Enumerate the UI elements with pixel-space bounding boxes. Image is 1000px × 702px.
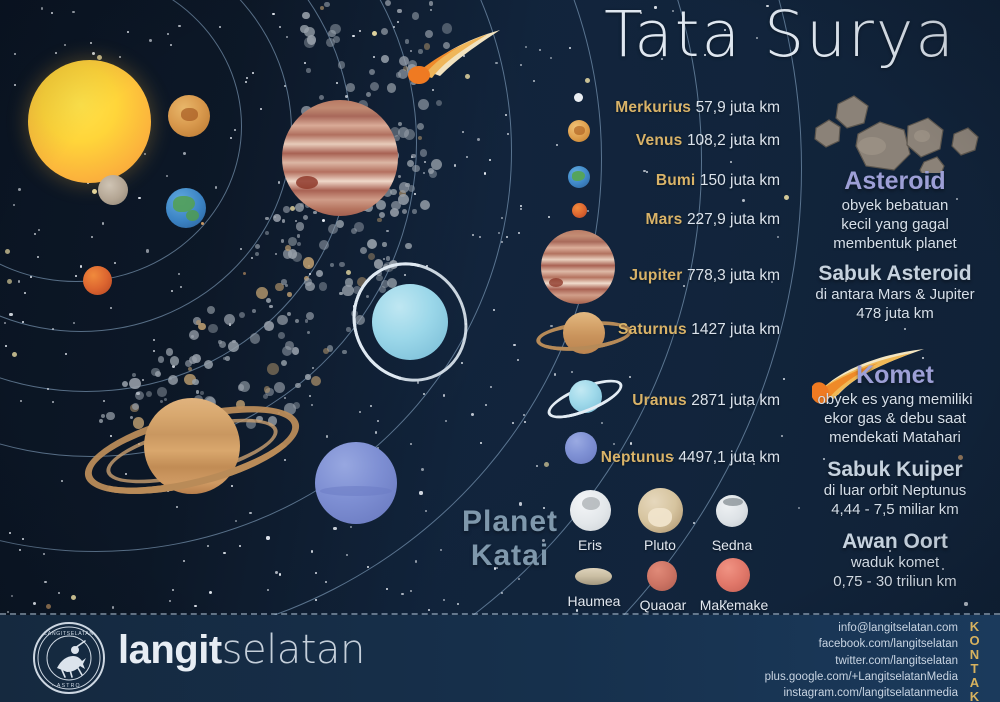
star [14, 53, 16, 55]
asteroid-dot [277, 315, 287, 325]
star [373, 56, 375, 58]
jupiter-great-red-spot-left [296, 176, 318, 189]
asteroid-dot [418, 136, 423, 141]
asteroid-dot [228, 341, 239, 352]
asteroid-dot [320, 6, 324, 10]
star [315, 572, 317, 574]
asteroid-dot [223, 357, 227, 361]
asteroid-dot [354, 222, 364, 232]
star [41, 7, 43, 9]
star [284, 85, 286, 87]
star [260, 108, 262, 110]
star [171, 290, 173, 292]
star [377, 420, 379, 422]
saturn-group-left [82, 366, 302, 536]
star [11, 595, 13, 597]
logo-emblem-icon: LANGITSELATAN · ASTRO · [35, 624, 103, 692]
star [92, 52, 95, 55]
asteroid-dot [379, 212, 385, 218]
star [275, 571, 278, 574]
asteroid-dot [275, 283, 284, 292]
star [383, 258, 385, 260]
asteroid-dot [339, 262, 345, 268]
dwarf-label-sedna: Sedna [692, 537, 772, 553]
asteroid-desc-2: kecil yang gagal [795, 215, 995, 234]
asteroid-dot [405, 183, 410, 188]
star [278, 181, 280, 183]
star [423, 172, 425, 174]
star [345, 95, 348, 98]
star [223, 552, 225, 554]
contact-facebook[interactable]: facebook.com/langitselatan [698, 636, 958, 652]
quaoar-icon [647, 561, 677, 591]
asteroid-dot [366, 92, 371, 97]
star [33, 602, 36, 605]
orbit-venus [0, 0, 292, 332]
star [5, 249, 10, 254]
star [518, 232, 520, 234]
star [784, 195, 789, 200]
asteroid-dot [397, 9, 402, 14]
asteroid-dot [316, 270, 323, 277]
star [352, 35, 354, 37]
star [245, 81, 247, 83]
star [119, 56, 121, 58]
star [252, 72, 254, 74]
star [525, 46, 527, 48]
asteroid-dot [390, 208, 399, 217]
planet-row-earth: Bumi 150 juta km [430, 172, 780, 190]
star [75, 275, 77, 277]
asteroid-dot [295, 319, 299, 323]
star [693, 522, 695, 524]
asteroid-dot [323, 348, 330, 355]
star [350, 526, 352, 528]
asteroid-dot [281, 360, 287, 366]
asteroid-dot [166, 348, 174, 356]
asteroid-dot [377, 218, 382, 223]
star [471, 413, 474, 416]
sabuk-asteroid-block: Sabuk Asteroid di antara Mars & Jupiter … [795, 262, 995, 323]
dwarf-label-pluto: Pluto [620, 537, 700, 553]
contact-googleplus[interactable]: plus.google.com/+LangitselatanMedia [698, 669, 958, 685]
asteroid-dot [328, 224, 338, 234]
asteroid-dot [381, 55, 389, 63]
star [290, 206, 295, 211]
asteroid-dot [398, 175, 401, 178]
asteroid-dot [232, 340, 236, 344]
star [20, 400, 22, 402]
star [275, 253, 277, 255]
star [346, 554, 348, 556]
star [375, 431, 377, 433]
star [65, 353, 67, 355]
asteroid-dot [250, 333, 261, 344]
asteroid-dot [282, 219, 286, 223]
star [24, 292, 26, 294]
star [311, 404, 313, 406]
star [312, 367, 314, 369]
asteroid-dot [300, 25, 309, 34]
planet-row-saturn: Saturnus 1427 juta km [430, 321, 780, 339]
star [585, 78, 590, 83]
asteroid-dot [189, 356, 197, 364]
contact-twitter[interactable]: twitter.com/langitselatan [698, 653, 958, 669]
page-title: Tata Surya [570, 2, 990, 68]
asteroid-dot [330, 263, 334, 267]
asteroid-dot [368, 253, 375, 260]
sabuk-asteroid-heading: Sabuk Asteroid [795, 262, 995, 285]
asteroid-dot [327, 345, 333, 351]
star [64, 44, 66, 46]
star [498, 232, 500, 234]
star [153, 350, 155, 352]
star [18, 188, 21, 191]
star [730, 161, 732, 163]
komet-block: Komet obyek es yang memiliki ekor gas & … [795, 362, 995, 447]
star [493, 309, 495, 311]
star [286, 36, 288, 38]
eris-icon-mark [582, 497, 600, 510]
star [234, 129, 236, 131]
star [46, 604, 51, 609]
star [72, 11, 74, 13]
asteroid-dot [330, 24, 340, 34]
asteroid-dot [418, 99, 429, 110]
asteroid-dot [307, 331, 310, 334]
pluto-icon-heart [648, 508, 672, 527]
sun-body [28, 60, 151, 183]
star [518, 578, 520, 580]
star [336, 82, 338, 84]
star [520, 205, 522, 207]
asteroid-dot [300, 203, 304, 207]
star [219, 26, 221, 28]
star [18, 280, 20, 282]
star [781, 435, 783, 437]
star [22, 321, 24, 323]
star [964, 602, 967, 605]
sabuk-kuiper-block: Sabuk Kuiper di luar orbit Neptunus 4,44… [795, 458, 995, 519]
star [127, 31, 129, 33]
asteroid-dot [255, 252, 260, 257]
star [47, 388, 49, 390]
asteroid-dot [292, 252, 302, 262]
asteroid-dot [305, 374, 311, 380]
star [34, 233, 36, 235]
star [550, 57, 552, 59]
asteroid-dot [411, 154, 416, 159]
asteroid-dot [225, 356, 230, 361]
komet-desc-3: mendekati Matahari [795, 428, 995, 447]
star [489, 159, 491, 161]
star [777, 236, 779, 238]
sabuk-kuiper-desc-1: di luar orbit Neptunus [795, 481, 995, 500]
star [215, 186, 217, 188]
star [110, 307, 112, 309]
asteroid-dot [297, 234, 301, 238]
planet-distance-jupiter: 778,3 juta km [687, 267, 780, 284]
star [783, 378, 785, 380]
star [243, 272, 246, 275]
planet-distance-uranus: 2871 juta km [691, 392, 780, 409]
asteroid-dot [306, 312, 314, 320]
star [112, 606, 114, 608]
asteroid-dot [398, 194, 409, 205]
star [386, 588, 388, 590]
asteroid-dot [412, 165, 419, 172]
planet-distance-venus: 108,2 juta km [687, 132, 780, 149]
asteroid-dot [307, 35, 317, 45]
star [430, 9, 432, 11]
komet-desc-1: obyek es yang memiliki [795, 390, 995, 409]
star [102, 222, 104, 224]
asteroid-dot [387, 83, 397, 93]
asteroid-dot [398, 122, 403, 127]
svg-text:LANGITSELATAN: LANGITSELATAN [44, 631, 93, 637]
star [326, 435, 328, 437]
asteroid-dot [346, 83, 355, 92]
asteroid-dot [324, 2, 330, 8]
star [372, 31, 377, 36]
star [209, 591, 212, 594]
asteroid-block: Asteroid obyek bebatuan kecil yang gagal… [795, 168, 995, 253]
asteroid-dot [336, 220, 344, 228]
planet-distance-saturn: 1427 juta km [691, 321, 780, 338]
star [149, 39, 152, 42]
star [251, 257, 253, 259]
asteroid-dot [305, 282, 314, 291]
asteroid-dot [285, 245, 291, 251]
asteroid-dot [385, 0, 392, 6]
comet-icon-scene [404, 16, 524, 86]
asteroid-dot [170, 356, 180, 366]
asteroid-dot [382, 242, 386, 246]
star [71, 595, 76, 600]
star [415, 560, 417, 562]
asteroid-dot [369, 69, 375, 75]
star [524, 421, 526, 423]
asteroid-dot [255, 244, 260, 249]
star [410, 590, 412, 592]
asteroid-dot [333, 36, 340, 43]
asteroid-dot [191, 335, 195, 339]
star [523, 414, 525, 416]
asteroid-dot [304, 278, 312, 286]
asteroid-dot [264, 321, 273, 330]
asteroid-desc-3: membentuk planet [795, 234, 995, 253]
star [419, 491, 422, 494]
star [183, 560, 185, 562]
star [279, 573, 281, 575]
awan-oort-desc-1: waduk komet [795, 553, 995, 572]
star [44, 581, 46, 583]
neptune-band-left [320, 486, 392, 496]
sabuk-asteroid-desc-1: di antara Mars & Jupiter [795, 285, 995, 304]
star [55, 52, 57, 54]
star [166, 175, 168, 177]
star [12, 352, 17, 357]
sedna-icon-mark [723, 498, 743, 506]
star [51, 12, 53, 14]
star [613, 443, 615, 445]
star [309, 273, 311, 275]
asteroid-dot [265, 217, 268, 220]
asteroid-dot [311, 376, 321, 386]
asteroid-dot [338, 61, 345, 68]
asteroid-dot [196, 320, 201, 325]
planet-row-neptune: Neptunus 4497,1 juta km [430, 449, 780, 467]
asteroid-dot [266, 298, 271, 303]
sabuk-asteroid-desc-2: 478 juta km [795, 304, 995, 323]
asteroid-dot [381, 28, 388, 35]
kontak-vertical-label: KONTAK [966, 620, 984, 702]
asteroid-dot [404, 129, 415, 140]
asteroid-desc-1: obyek bebatuan [795, 196, 995, 215]
star [52, 328, 54, 330]
star [325, 581, 327, 583]
komet-desc-2: ekor gas & debu saat [795, 409, 995, 428]
star [9, 532, 11, 534]
star [513, 344, 515, 346]
star [386, 230, 388, 232]
asteroid-dot [278, 332, 285, 339]
asteroid-dot [304, 27, 315, 38]
sabuk-kuiper-heading: Sabuk Kuiper [795, 458, 995, 481]
contact-email[interactable]: info@langitselatan.com [698, 620, 958, 636]
asteroid-dot [296, 222, 305, 231]
star [73, 322, 75, 324]
star [630, 442, 632, 444]
star [183, 152, 186, 155]
asteroid-dot [265, 231, 269, 235]
star [443, 599, 445, 601]
star [52, 401, 54, 403]
asteroid-dot [207, 306, 215, 314]
star [240, 248, 242, 250]
star [178, 25, 180, 27]
asteroid-dot [192, 354, 201, 363]
star [457, 603, 459, 605]
star [629, 376, 631, 378]
asteroid-dot [431, 159, 443, 171]
star [428, 609, 430, 611]
star [22, 538, 24, 540]
star [506, 236, 508, 238]
star [424, 161, 426, 163]
dwarf-label-eris: Eris [550, 537, 630, 553]
star [423, 393, 425, 395]
star [370, 405, 372, 407]
star [91, 236, 93, 238]
star [7, 279, 12, 284]
star [30, 276, 32, 278]
asteroid-dot [417, 123, 424, 130]
planet-row-venus: Venus 108,2 juta km [430, 132, 780, 150]
star [180, 286, 182, 288]
star [480, 442, 482, 444]
asteroid-dot [396, 72, 402, 78]
asteroid-dot [288, 249, 298, 259]
asteroid-dot [328, 30, 335, 37]
asteroid-dot [189, 330, 199, 340]
planet-distance-mars: 227,9 juta km [687, 211, 780, 228]
asteroid-dot [198, 323, 205, 330]
asteroid-dot [218, 340, 222, 344]
sabuk-kuiper-desc-2: 4,44 - 7,5 miliar km [795, 500, 995, 519]
planet-name-mars: Mars [646, 211, 683, 228]
planet-row-uranus: Uranus 2871 juta km [430, 392, 780, 410]
star [309, 395, 311, 397]
star [539, 49, 541, 51]
star [58, 592, 60, 594]
asteroid-dot [302, 12, 310, 20]
star [14, 84, 16, 86]
brand-light: selatan [222, 627, 365, 673]
footer-divider [0, 613, 1000, 615]
asteroid-dot [390, 189, 397, 196]
asteroid-dot [281, 279, 287, 285]
langitselatan-logo: LANGITSELATAN · ASTRO · [33, 622, 105, 694]
asteroid-dot [306, 68, 310, 72]
star [207, 545, 209, 547]
asteroid-dot [399, 190, 406, 197]
star [479, 236, 481, 238]
asteroid-dot [158, 356, 165, 363]
asteroid-dot [285, 341, 294, 350]
asteroid-dot [412, 209, 416, 213]
star [269, 305, 272, 308]
asteroid-dot [303, 257, 314, 268]
asteroid-dot [283, 249, 293, 259]
star [295, 220, 297, 222]
venus-surface-mark-left [181, 108, 198, 121]
asteroid-dot [282, 346, 292, 356]
star [4, 322, 6, 324]
star [92, 189, 97, 194]
star [359, 30, 361, 32]
asteroid-dot [287, 312, 291, 316]
asteroid-dot [420, 149, 428, 157]
asteroid-dot [370, 82, 379, 91]
asteroid-dot [297, 242, 301, 246]
star [172, 589, 174, 591]
asteroid-dot [256, 287, 268, 299]
asteroid-dot [407, 160, 414, 167]
contact-instagram[interactable]: instagram.com/langitselatanmedia [698, 685, 958, 701]
star [80, 265, 82, 267]
star [333, 527, 336, 530]
star [178, 273, 180, 275]
planet-name-mercury: Merkurius [615, 99, 691, 116]
planet-name-venus: Venus [636, 132, 683, 149]
asteroid-dot [283, 206, 290, 213]
planet-distance-earth: 150 juta km [700, 172, 780, 189]
asteroid-dot [273, 214, 282, 223]
star [5, 345, 7, 347]
star [454, 164, 456, 166]
asteroid-dot [285, 284, 288, 287]
asteroid-dot [281, 239, 285, 243]
planet-name-neptune: Neptunus [601, 449, 674, 466]
star [425, 510, 427, 512]
star [169, 600, 171, 602]
asteroid-dot [399, 182, 410, 193]
asteroid-heading: Asteroid [795, 168, 995, 196]
star [304, 62, 306, 64]
star [201, 222, 204, 225]
star [322, 219, 325, 222]
